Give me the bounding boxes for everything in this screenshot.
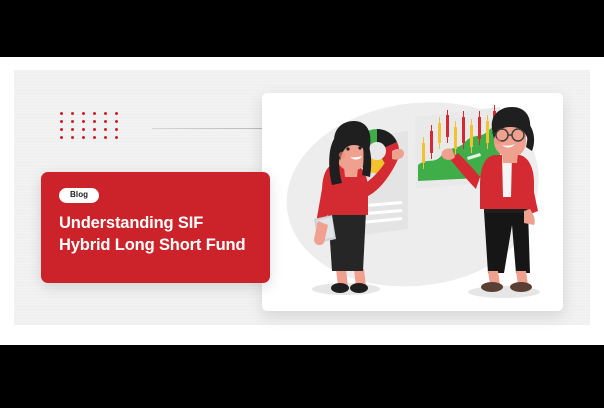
dot-grid-decoration — [60, 112, 126, 144]
grid-dot — [82, 120, 85, 123]
page-title: Understanding SIF Hybrid Long Short Fund — [59, 213, 264, 257]
grid-dot — [71, 128, 74, 131]
grid-dot — [71, 120, 74, 123]
grid-dot — [71, 112, 74, 115]
illustration-graphic — [262, 93, 563, 311]
grid-dot — [104, 120, 107, 123]
grid-dot — [60, 120, 63, 123]
grid-dot — [115, 128, 118, 131]
grid-dot — [60, 136, 63, 139]
grid-dot — [93, 128, 96, 131]
page-title-line-1: Understanding SIF — [59, 213, 264, 235]
divider-line — [152, 128, 266, 129]
grid-dot — [82, 112, 85, 115]
grid-dot — [93, 112, 96, 115]
status-badge: Blog — [59, 188, 99, 203]
blog-title-card[interactable]: Blog Understanding SIF Hybrid Long Short… — [41, 172, 270, 283]
screenshot-stage: Blog Understanding SIF Hybrid Long Short… — [0, 0, 604, 408]
grid-dot — [82, 136, 85, 139]
grid-dot — [60, 112, 63, 115]
grid-dot — [104, 112, 107, 115]
grid-dot — [115, 136, 118, 139]
page-title-line-2: Hybrid Long Short Fund — [59, 235, 264, 257]
grid-dot — [82, 128, 85, 131]
grid-dot — [60, 128, 63, 131]
grid-dot — [104, 136, 107, 139]
grid-dot — [71, 136, 74, 139]
grid-dot — [115, 120, 118, 123]
grid-dot — [115, 112, 118, 115]
grid-dot — [104, 128, 107, 131]
grid-dot — [93, 136, 96, 139]
grid-dot — [93, 120, 96, 123]
illustration-card — [262, 93, 563, 311]
